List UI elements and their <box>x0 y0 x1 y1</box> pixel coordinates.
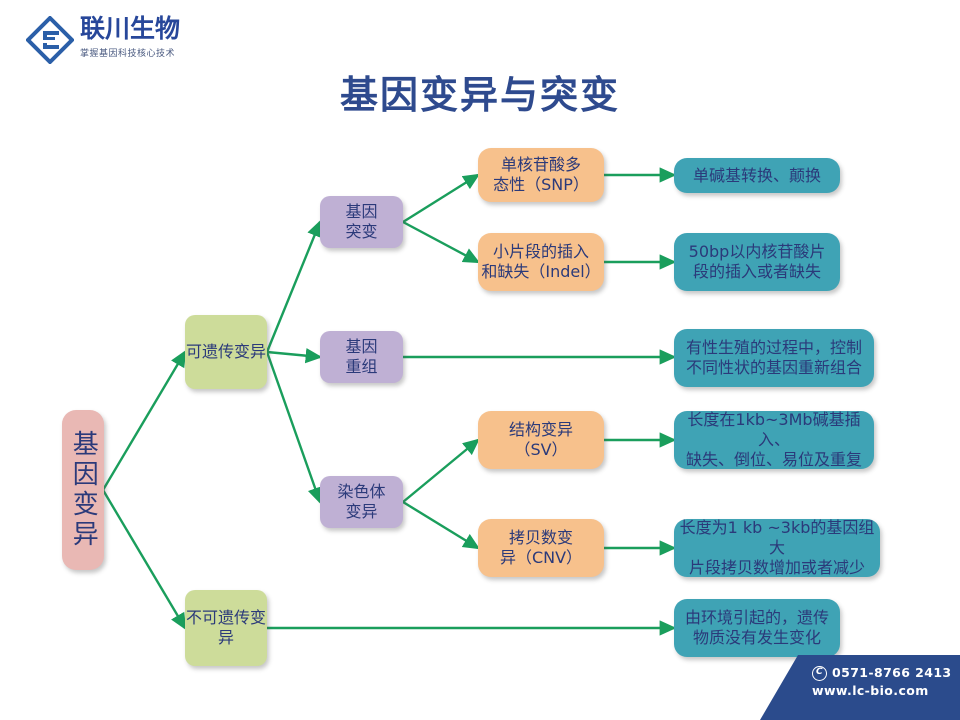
node-snp[interactable]: 单核苷酸多 态性（SNP） <box>478 148 604 202</box>
edge-mutation-snp <box>403 175 478 222</box>
node-heritable-variation[interactable]: 可遗传变异 <box>185 315 267 389</box>
node-gene-mutation[interactable]: 基因 突变 <box>320 196 403 248</box>
desc-indel[interactable]: 50bp以内核苷酸片 段的插入或者缺失 <box>674 233 840 291</box>
footer-phone: 0571-8766 2413 <box>832 664 952 682</box>
desc-copy-number-variation[interactable]: 长度为1 kb ~3kb的基因组大 片段拷贝数增加或者减少 <box>674 519 880 577</box>
footer-website[interactable]: www.lc-bio.com <box>812 682 952 700</box>
footer-phone-row: C 0571-8766 2413 <box>812 664 952 682</box>
node-copy-number-variation[interactable]: 拷贝数变 异（CNV） <box>478 519 604 577</box>
node-non-heritable-variation[interactable]: 不可遗传变异 <box>185 590 267 666</box>
node-gene-recombination[interactable]: 基因 重组 <box>320 331 403 383</box>
edge-chromosome-sv <box>403 440 478 502</box>
node-structural-variation[interactable]: 结构变异 （SV） <box>478 411 604 469</box>
phone-icon: C <box>812 666 827 681</box>
desc-snp[interactable]: 单碱基转换、颠换 <box>674 158 840 193</box>
node-root-genetic-variation[interactable]: 基因变异 <box>62 410 104 570</box>
desc-non-heritable[interactable]: 由环境引起的，遗传 物质没有发生变化 <box>674 599 840 657</box>
desc-recombination[interactable]: 有性生殖的过程中，控制 不同性状的基因重新组合 <box>674 329 874 387</box>
edge-heritable-chromosome <box>267 352 320 502</box>
node-indel[interactable]: 小片段的插入 和缺失（Indel） <box>478 233 604 291</box>
desc-structural-variation[interactable]: 长度在1kb~3Mb碱基插入、 缺失、倒位、易位及重复 <box>674 411 874 469</box>
edge-root-nonheritable <box>103 490 185 628</box>
footer-contact: C 0571-8766 2413 www.lc-bio.com <box>812 664 952 700</box>
edge-chromosome-cnv <box>403 502 478 548</box>
edge-heritable-recombination <box>267 352 320 357</box>
mindmap-diagram: 基因变异 可遗传变异 不可遗传变异 基因 突变 基因 重组 染色体 变异 单核苷… <box>0 0 960 720</box>
slide-canvas: 联川生物 掌握基因科技核心技术 基因变异与突变 <box>0 0 960 720</box>
edge-mutation-indel <box>403 222 478 262</box>
edge-root-heritable <box>103 352 185 490</box>
edge-heritable-mutation <box>267 222 320 352</box>
node-chromosome-variation[interactable]: 染色体 变异 <box>320 476 403 528</box>
